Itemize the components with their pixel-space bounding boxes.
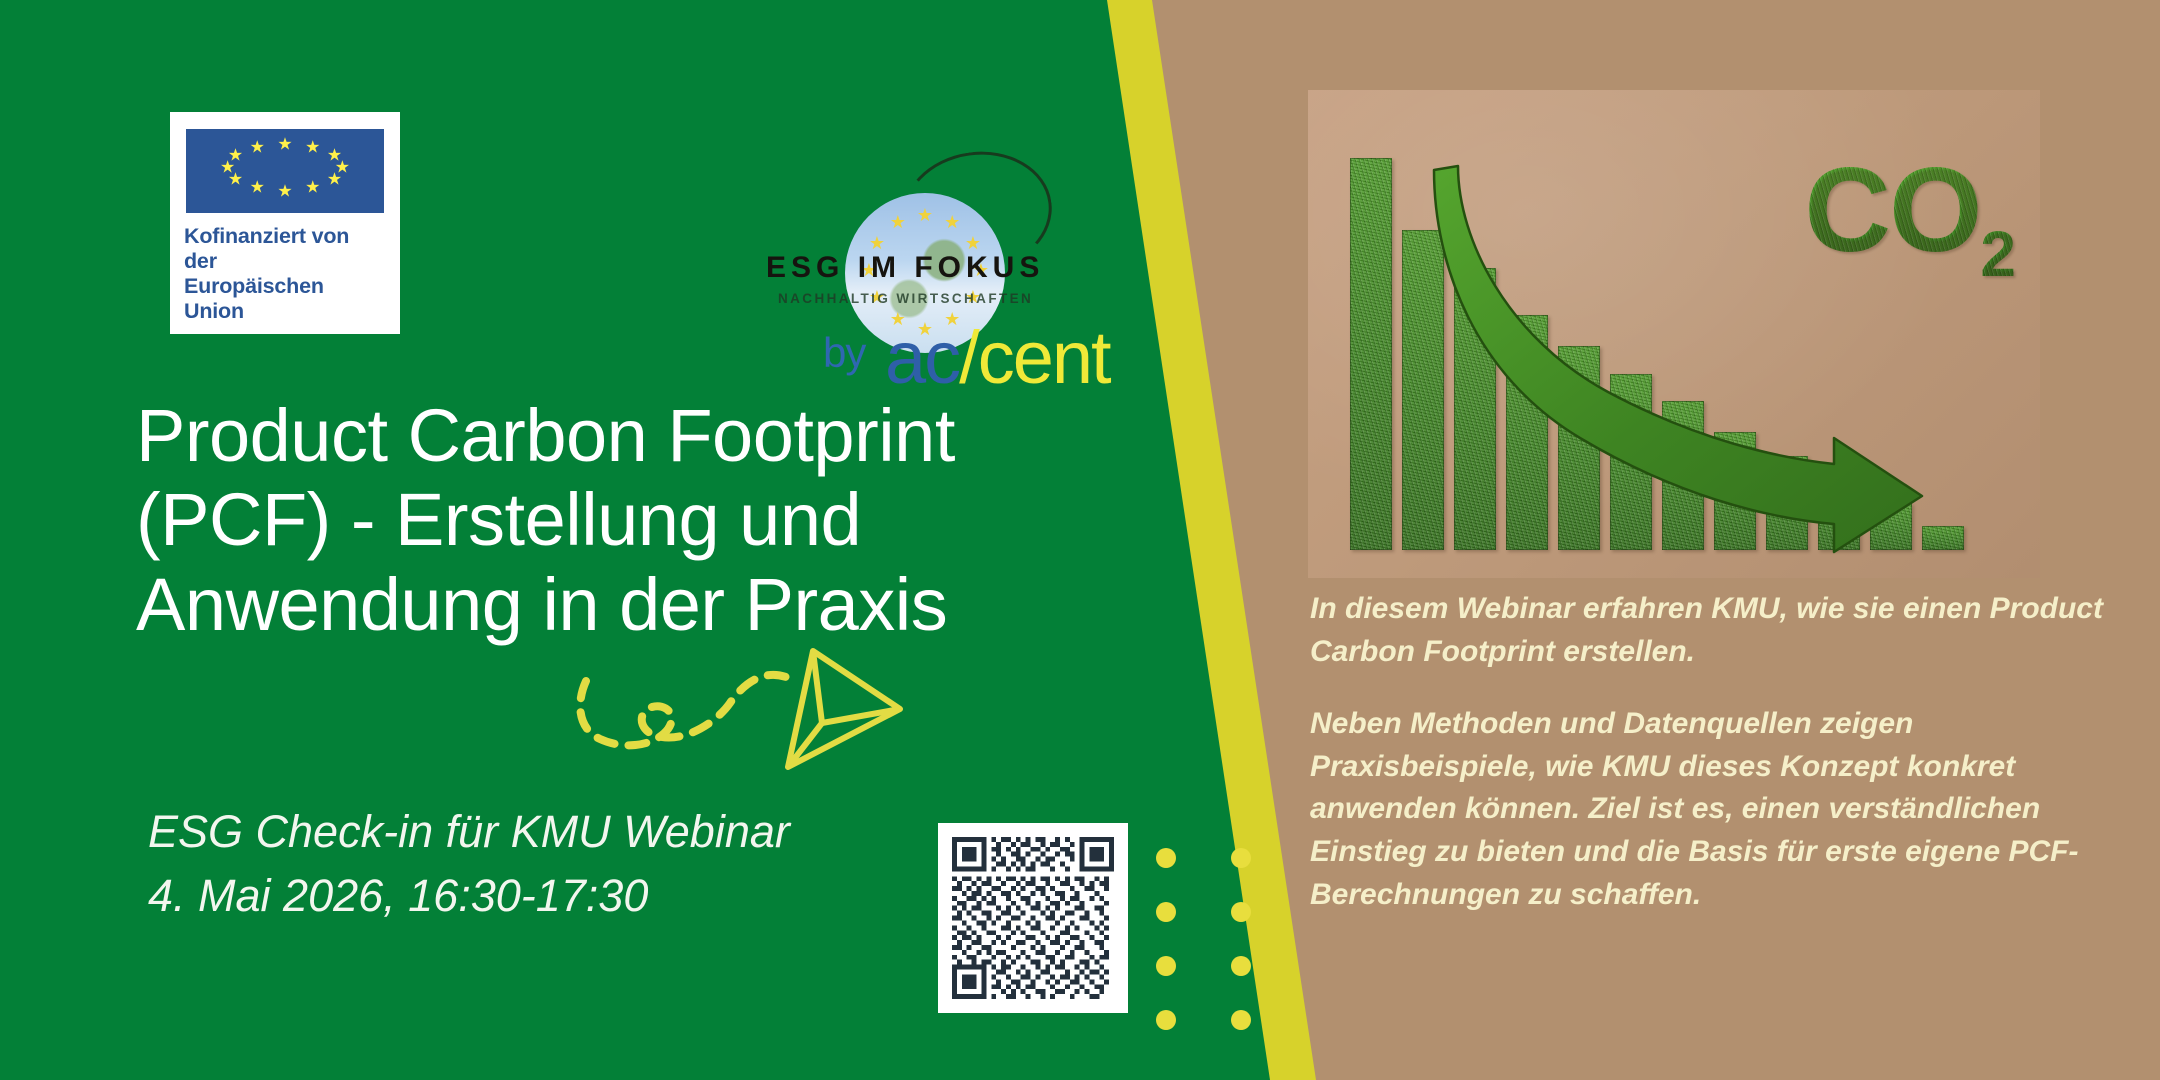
dot <box>1231 848 1251 868</box>
globe-star-1: ★ <box>917 206 933 224</box>
co2-label: CO2 <box>1804 150 2014 286</box>
esg-logo-by-label: by <box>823 329 865 377</box>
globe-star-12: ★ <box>890 213 906 231</box>
dot <box>1231 956 1251 976</box>
qr-code-image <box>952 837 1114 999</box>
dashed-trail-icon <box>580 675 786 745</box>
event-series: ESG Check-in für KMU Webinar <box>148 800 968 864</box>
qr-code[interactable] <box>938 823 1128 1013</box>
accent-brand-ac: ac <box>885 316 959 399</box>
dot <box>1156 956 1176 976</box>
esg-logo-title: ESG IM FOKUS <box>766 251 1096 285</box>
esg-im-fokus-logo: ★ ★ ★ ★ ★ ★ ★ ★ ★ ★ ★ ★ ESG IM FOKUS NAC… <box>790 155 1110 395</box>
page-title-line1: Product Carbon Footprint <box>136 394 1156 478</box>
accent-brand-cent: cent <box>978 316 1110 399</box>
accent-brand-slash: / <box>959 316 978 399</box>
paper-plane-icon <box>788 651 900 767</box>
description-paragraph-2: Neben Methoden und Datenquellen zeigen P… <box>1310 703 2120 916</box>
eu-cofunded-logo: Kofinanziert von der Europäischen Union <box>170 112 400 334</box>
eu-flag-icon <box>186 129 384 213</box>
event-datetime: 4. Mai 2026, 16:30-17:30 <box>148 864 968 928</box>
co2-subscript: 2 <box>1980 218 2014 290</box>
event-details: ESG Check-in für KMU Webinar 4. Mai 2026… <box>148 800 968 928</box>
globe-star-2: ★ <box>944 213 960 231</box>
page-title: Product Carbon Footprint (PCF) - Erstell… <box>136 394 1156 647</box>
esg-logo-tagline: NACHHALTIG WIRTSCHAFTEN <box>778 291 1108 306</box>
co2-declining-chart-image: CO2 <box>1308 90 2040 578</box>
description-paragraph-1: In diesem Webinar erfahren KMU, wie sie … <box>1310 588 2120 673</box>
dot <box>1231 902 1251 922</box>
dot <box>1231 1010 1251 1030</box>
page-title-line3: Anwendung in der Praxis <box>136 563 1156 647</box>
globe-star-11: ★ <box>869 234 885 252</box>
dot <box>1156 848 1176 868</box>
page-title-line2: (PCF) - Erstellung und <box>136 478 1156 562</box>
eu-logo-line2: Europäischen Union <box>184 274 386 324</box>
paper-plane-decoration <box>570 645 910 775</box>
eu-logo-line1: Kofinanziert von der <box>184 224 386 274</box>
dot <box>1156 1010 1176 1030</box>
dot-grid-decoration <box>1156 848 1266 1008</box>
description-block: In diesem Webinar erfahren KMU, wie sie … <box>1310 588 2120 916</box>
accent-brand-wordmark: ac/cent <box>885 321 1110 395</box>
co2-label-text: CO2 <box>1804 143 2014 277</box>
dot <box>1156 902 1176 922</box>
banner-root: Kofinanziert von der Europäischen Union … <box>0 0 2160 1080</box>
globe-star-3: ★ <box>965 234 981 252</box>
eu-logo-text: Kofinanziert von der Europäischen Union <box>184 224 386 324</box>
